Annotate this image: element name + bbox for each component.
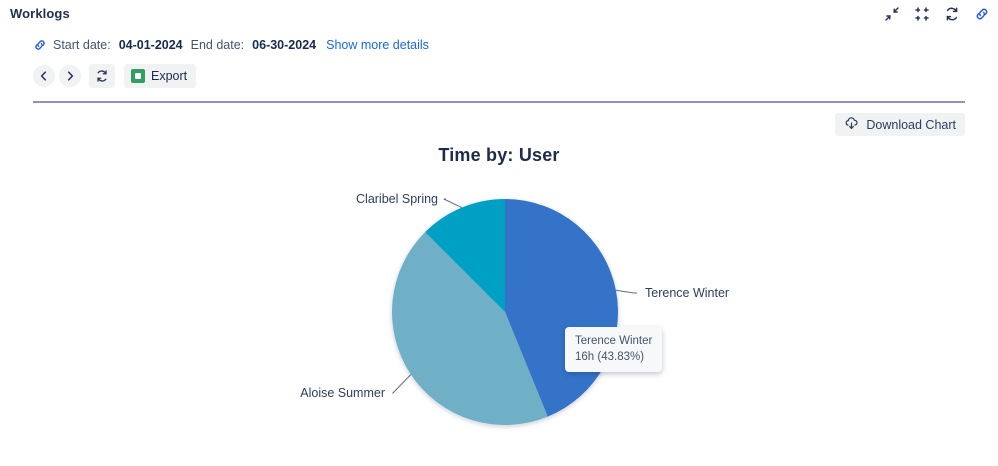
download-chart-button[interactable]: Download Chart [835,113,965,136]
window-controls [884,6,990,22]
link-icon [33,38,47,52]
page-title: Worklogs [10,6,70,21]
pie-leader-line [444,199,462,208]
pie-leader-line [393,375,411,394]
download-chart-label: Download Chart [866,118,956,132]
next-period-button[interactable] [59,65,81,87]
minimize-icon[interactable] [914,6,930,22]
excel-icon [131,69,145,83]
link-icon[interactable] [974,6,990,22]
cloud-download-icon [844,116,859,134]
worklogs-panel: Worklogs [0,0,998,466]
pie-slice-label: Claribel Spring [356,192,438,206]
collapse-diagonal-icon[interactable] [884,6,900,22]
pie-slices[interactable] [392,199,618,425]
end-date-value: 06-30-2024 [252,38,316,52]
toolbar: Export [33,64,196,88]
filter-summary: Start date: 04-01-2024 End date: 06-30-2… [33,38,429,52]
end-date-label: End date: [191,38,245,52]
pie-slice-label: Aloise Summer [300,386,385,400]
pie-leader-line [616,290,637,293]
pie-slice-label: Terence Winter [645,286,729,300]
pie-chart: Terence WinterAloise SummerClaribel Spri… [0,175,998,465]
refresh-button[interactable] [89,64,115,88]
start-date-label: Start date: [53,38,111,52]
export-button[interactable]: Export [124,64,196,88]
chart-title: Time by: User [0,145,998,166]
refresh-icon[interactable] [944,6,960,22]
show-more-details-link[interactable]: Show more details [326,38,429,52]
export-button-label: Export [151,69,187,83]
section-divider [33,101,965,103]
previous-period-button[interactable] [33,65,55,87]
start-date-value: 04-01-2024 [119,38,183,52]
